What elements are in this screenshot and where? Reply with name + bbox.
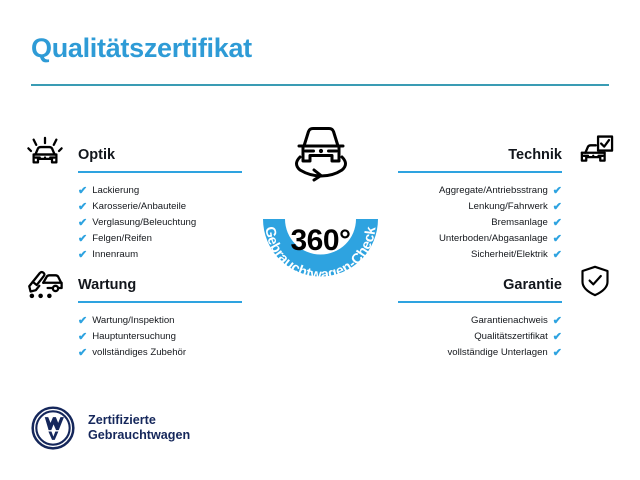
check-icon: ✔: [78, 332, 87, 343]
list-item-label: Bremsanlage: [491, 215, 548, 231]
list-item: ✔vollständiges Zubehör: [78, 345, 242, 361]
badge-360-gebrauchtwagen-check: Gebrauchtwagen-Check 360°: [243, 120, 398, 310]
list-item: ✔vollständige Unterlagen: [398, 345, 562, 361]
header-divider: [31, 84, 609, 86]
section-title: Wartung: [78, 278, 242, 294]
list-item: ✔Wartung/Inspektion: [78, 313, 242, 329]
list-item: ✔Unterboden/Abgasanlage: [398, 231, 562, 247]
brand-line-2: Gebrauchtwagen: [88, 428, 190, 443]
section-technik: Technik ✔Aggregate/Antriebsstrang ✔Lenku…: [398, 128, 618, 263]
list-item: ✔Aggregate/Antriebsstrang: [398, 183, 562, 199]
check-icon: ✔: [78, 202, 87, 213]
section-title: Optik: [78, 148, 242, 164]
brand-line-1: Zertifizierte: [88, 413, 190, 428]
section-technik-list: ✔Aggregate/Antriebsstrang ✔Lenkung/Fahrw…: [398, 183, 618, 263]
section-divider: [78, 301, 242, 303]
section-optik-title-wrap: Optik: [68, 148, 242, 174]
check-icon: ✔: [78, 186, 87, 197]
check-icon: ✔: [553, 186, 562, 197]
header: Qualitätszertifikat: [31, 34, 609, 86]
check-icon: ✔: [78, 218, 87, 229]
list-item-label: Wartung/Inspektion: [92, 313, 174, 329]
shield-check-icon: [572, 258, 618, 304]
check-icon: ✔: [78, 348, 87, 359]
list-item-label: vollständige Unterlagen: [448, 345, 548, 361]
check-icon: ✔: [78, 234, 87, 245]
list-item-label: Qualitätszertifikat: [474, 329, 548, 345]
check-icon: ✔: [553, 202, 562, 213]
page-title: Qualitätszertifikat: [31, 34, 609, 64]
car-checkbox-icon: [572, 128, 618, 174]
list-item-label: Lackierung: [92, 183, 139, 199]
section-wartung: Wartung ✔Wartung/Inspektion ✔Hauptunters…: [22, 258, 242, 361]
check-icon: ✔: [553, 332, 562, 343]
brand-lockup: Zertifizierte Gebrauchtwagen: [30, 405, 190, 451]
list-item-label: Garantienachweis: [471, 313, 548, 329]
section-optik-list: ✔Lackierung ✔Karosserie/Anbauteile ✔Verg…: [22, 183, 242, 263]
car-service-pen-icon: [22, 258, 68, 304]
section-wartung-header: Wartung: [22, 258, 242, 304]
section-optik-header: Optik: [22, 128, 242, 174]
section-garantie-title-wrap: Garantie: [398, 278, 572, 304]
check-icon: ✔: [553, 348, 562, 359]
vw-logo-icon: [30, 405, 76, 451]
section-divider: [398, 171, 562, 173]
check-icon: ✔: [553, 234, 562, 245]
list-item-label: Felgen/Reifen: [92, 231, 152, 247]
list-item: ✔Hauptuntersuchung: [78, 329, 242, 345]
list-item-label: Lenkung/Fahrwerk: [468, 199, 547, 215]
list-item: ✔Verglasung/Beleuchtung: [78, 215, 242, 231]
section-divider: [398, 301, 562, 303]
section-garantie: Garantie ✔Garantienachweis ✔Qualitätszer…: [398, 258, 618, 361]
list-item: ✔Lackierung: [78, 183, 242, 199]
check-icon: ✔: [553, 218, 562, 229]
section-title: Garantie: [398, 278, 562, 294]
list-item: ✔Lenkung/Fahrwerk: [398, 199, 562, 215]
list-item-label: Verglasung/Beleuchtung: [92, 215, 196, 231]
list-item-label: Aggregate/Antriebsstrang: [439, 183, 548, 199]
brand-text: Zertifizierte Gebrauchtwagen: [88, 413, 190, 443]
list-item-label: Karosserie/Anbauteile: [92, 199, 186, 215]
list-item-label: Unterboden/Abgasanlage: [439, 231, 548, 247]
section-divider: [78, 171, 242, 173]
list-item: ✔Karosserie/Anbauteile: [78, 199, 242, 215]
section-wartung-title-wrap: Wartung: [68, 278, 242, 304]
check-icon: ✔: [553, 316, 562, 327]
car-rotate-360-icon: [280, 120, 362, 182]
list-item: ✔Felgen/Reifen: [78, 231, 242, 247]
list-item: ✔Garantienachweis: [398, 313, 562, 329]
section-title: Technik: [398, 148, 562, 164]
list-item: ✔Bremsanlage: [398, 215, 562, 231]
section-garantie-list: ✔Garantienachweis ✔Qualitätszertifikat ✔…: [398, 313, 618, 361]
list-item: ✔Qualitätszertifikat: [398, 329, 562, 345]
list-item-label: Hauptuntersuchung: [92, 329, 176, 345]
section-wartung-list: ✔Wartung/Inspektion ✔Hauptuntersuchung ✔…: [22, 313, 242, 361]
badge-value: 360°: [243, 226, 398, 256]
section-technik-title-wrap: Technik: [398, 148, 572, 174]
car-shine-icon: [22, 128, 68, 174]
section-technik-header: Technik: [398, 128, 618, 174]
quality-certificate-page: Qualitätszertifikat: [0, 0, 640, 480]
list-item-label: vollständiges Zubehör: [92, 345, 186, 361]
section-garantie-header: Garantie: [398, 258, 618, 304]
section-optik: Optik ✔Lackierung ✔Karosserie/Anbauteile…: [22, 128, 242, 263]
check-icon: ✔: [78, 316, 87, 327]
